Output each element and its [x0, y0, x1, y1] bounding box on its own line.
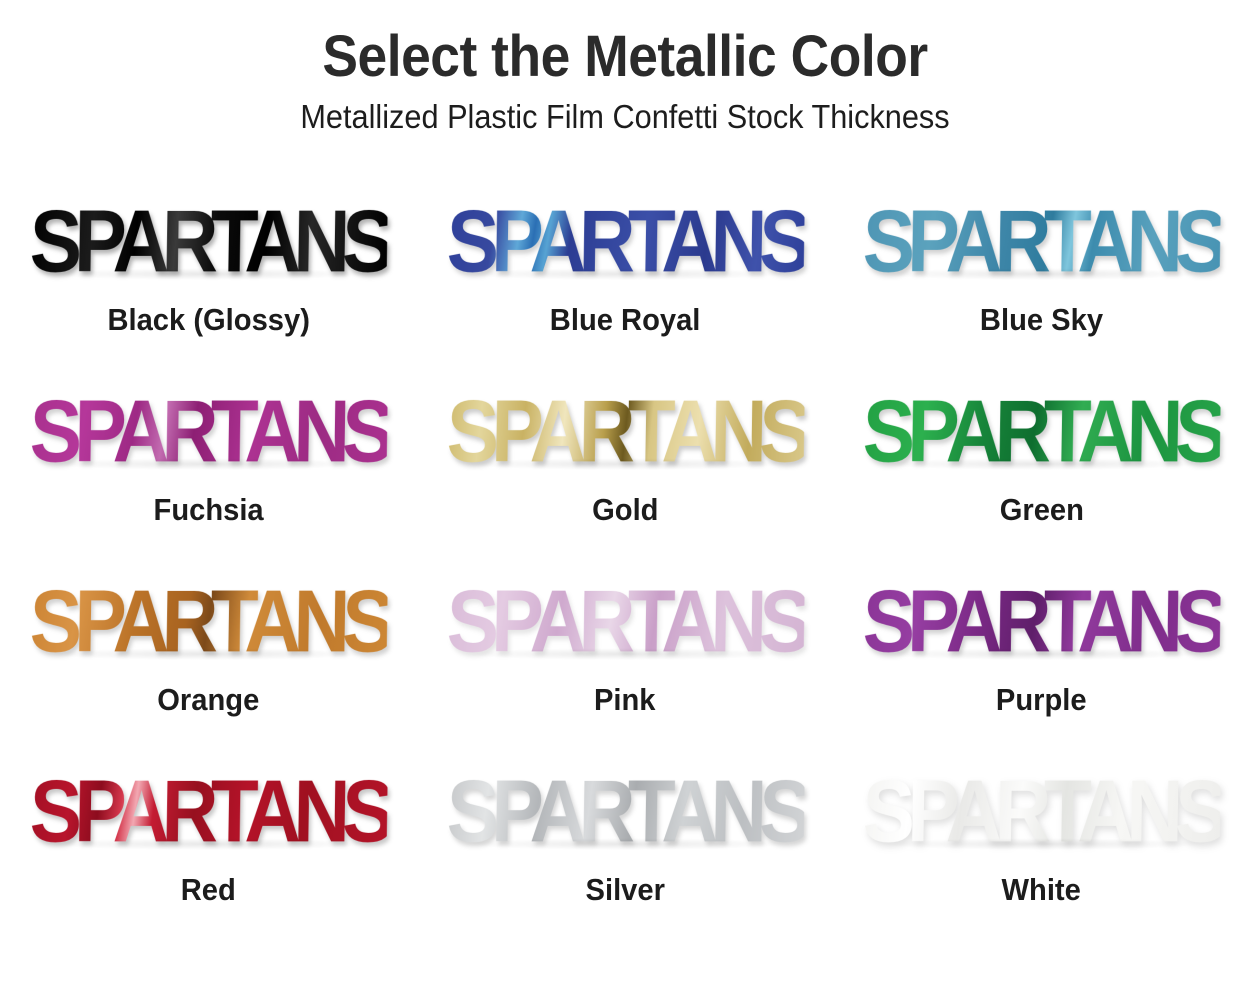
color-swatch-grid: SPARTANSBlack (Glossy)SPARTANSBlue Royal…	[0, 186, 1250, 946]
color-option-fuchsia[interactable]: SPARTANSFuchsia	[0, 376, 417, 566]
page-subtitle: Metallized Plastic Film Confetti Stock T…	[44, 99, 1207, 135]
color-label: Fuchsia	[153, 492, 263, 528]
spartans-wordmark-gold: SPARTANS	[446, 387, 804, 475]
spartans-wordmark-black: SPARTANS	[29, 197, 387, 285]
spartans-wordmark-purple: SPARTANS	[863, 577, 1221, 665]
spartans-wordmark-art[interactable]: SPARTANS	[0, 376, 417, 486]
color-label: Orange	[157, 682, 259, 718]
spartans-wordmark-fuchsia: SPARTANS	[29, 387, 387, 475]
spartans-wordmark-bluesky: SPARTANS	[863, 197, 1221, 285]
color-option-black[interactable]: SPARTANSBlack (Glossy)	[0, 186, 417, 376]
page-header: Select the Metallic Color Metallized Pla…	[0, 0, 1250, 136]
color-option-white[interactable]: SPARTANSWhite	[833, 756, 1250, 946]
color-option-bluesky[interactable]: SPARTANSBlue Sky	[833, 186, 1250, 376]
color-label: White	[1002, 872, 1081, 908]
spartans-wordmark-green: SPARTANS	[863, 387, 1221, 475]
spartans-wordmark-white: SPARTANS	[863, 767, 1221, 855]
color-option-orange[interactable]: SPARTANSOrange	[0, 566, 417, 756]
color-option-purple[interactable]: SPARTANSPurple	[833, 566, 1250, 756]
color-label: Blue Royal	[550, 302, 701, 338]
color-label: Pink	[594, 682, 656, 718]
spartans-wordmark-orange: SPARTANS	[29, 577, 387, 665]
spartans-wordmark-silver: SPARTANS	[446, 767, 804, 855]
color-option-green[interactable]: SPARTANSGreen	[833, 376, 1250, 566]
spartans-wordmark-art[interactable]: SPARTANS	[0, 756, 417, 866]
color-label: Red	[181, 872, 236, 908]
spartans-wordmark-art[interactable]: SPARTANS	[417, 756, 834, 866]
color-label: Black (Glossy)	[107, 302, 309, 338]
page-title: Select the Metallic Color	[50, 26, 1200, 87]
spartans-wordmark-art[interactable]: SPARTANS	[417, 186, 834, 296]
spartans-wordmark-art[interactable]: SPARTANS	[417, 376, 834, 486]
spartans-wordmark-art[interactable]: SPARTANS	[417, 566, 834, 676]
spartans-wordmark-art[interactable]: SPARTANS	[833, 566, 1250, 676]
spartans-wordmark-blueroyal: SPARTANS	[446, 197, 804, 285]
color-label: Silver	[585, 872, 664, 908]
color-label: Purple	[996, 682, 1087, 718]
spartans-wordmark-red: SPARTANS	[29, 767, 387, 855]
color-label: Blue Sky	[980, 302, 1103, 338]
color-option-pink[interactable]: SPARTANSPink	[417, 566, 834, 756]
spartans-wordmark-art[interactable]: SPARTANS	[833, 186, 1250, 296]
color-option-red[interactable]: SPARTANSRed	[0, 756, 417, 946]
color-label: Gold	[592, 492, 658, 528]
spartans-wordmark-art[interactable]: SPARTANS	[833, 756, 1250, 866]
metallic-color-selector-page: Select the Metallic Color Metallized Pla…	[0, 0, 1250, 1000]
color-option-silver[interactable]: SPARTANSSilver	[417, 756, 834, 946]
color-option-blueroyal[interactable]: SPARTANSBlue Royal	[417, 186, 834, 376]
spartans-wordmark-art[interactable]: SPARTANS	[0, 566, 417, 676]
spartans-wordmark-pink: SPARTANS	[446, 577, 804, 665]
color-label: Green	[1000, 492, 1084, 528]
spartans-wordmark-art[interactable]: SPARTANS	[0, 186, 417, 296]
color-option-gold[interactable]: SPARTANSGold	[417, 376, 834, 566]
spartans-wordmark-art[interactable]: SPARTANS	[833, 376, 1250, 486]
